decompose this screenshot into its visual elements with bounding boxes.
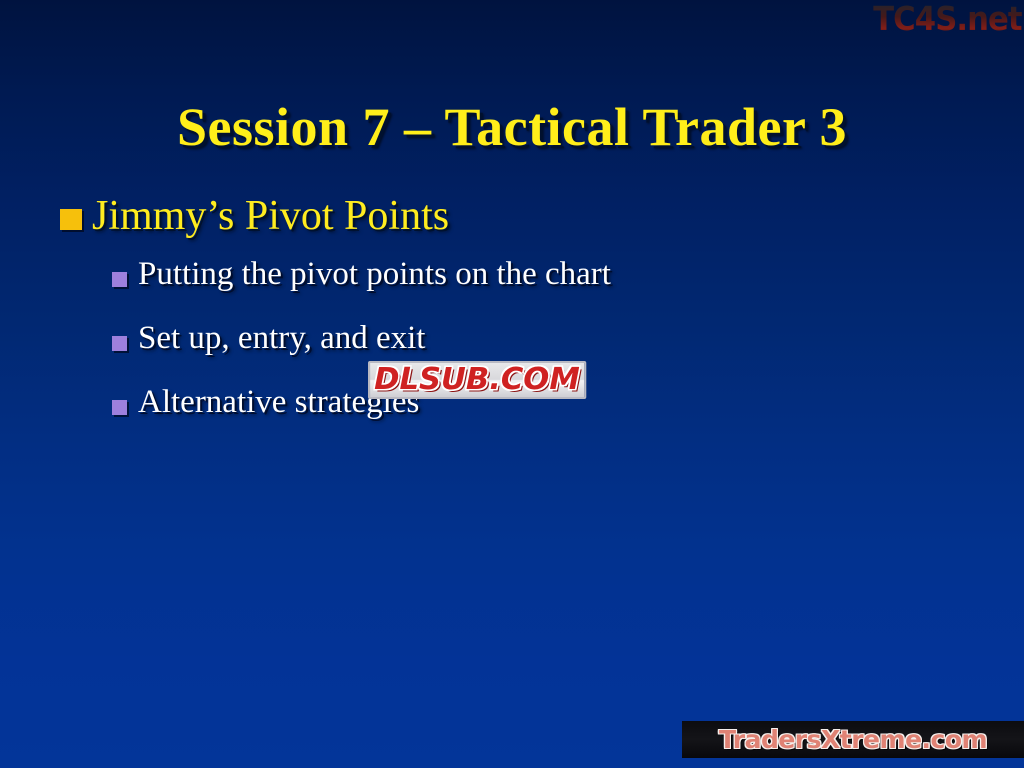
- watermark-dlsub: DLSUB.COM: [368, 361, 586, 399]
- bullet-level2-label: Putting the pivot points on the chart: [138, 255, 611, 293]
- watermark-tradersxtreme-label: TradersXtreme.com: [719, 727, 987, 752]
- watermark-tradersxtreme-band: TradersXtreme.com: [682, 721, 1024, 758]
- presentation-slide: Session 7 – Tactical Trader 3 Jimmy’s Pi…: [0, 0, 1024, 768]
- bullet-level1-label: Jimmy’s Pivot Points: [92, 192, 449, 241]
- bullet-level2: Putting the pivot points on the chart: [112, 255, 960, 319]
- sub-bullet-list: Putting the pivot points on the chart Se…: [112, 255, 960, 447]
- bullet-square-icon: [112, 272, 127, 287]
- bullet-square-icon: [112, 336, 127, 351]
- watermark-tc4s: TC4S.net: [874, 2, 1022, 35]
- bullet-level2-label: Set up, entry, and exit: [138, 319, 425, 357]
- bullet-level1: Jimmy’s Pivot Points: [60, 192, 960, 241]
- bullet-square-icon: [60, 209, 82, 230]
- bullet-square-icon: [112, 400, 127, 415]
- slide-body: Jimmy’s Pivot Points Putting the pivot p…: [60, 192, 960, 447]
- slide-title: Session 7 – Tactical Trader 3: [0, 98, 1024, 156]
